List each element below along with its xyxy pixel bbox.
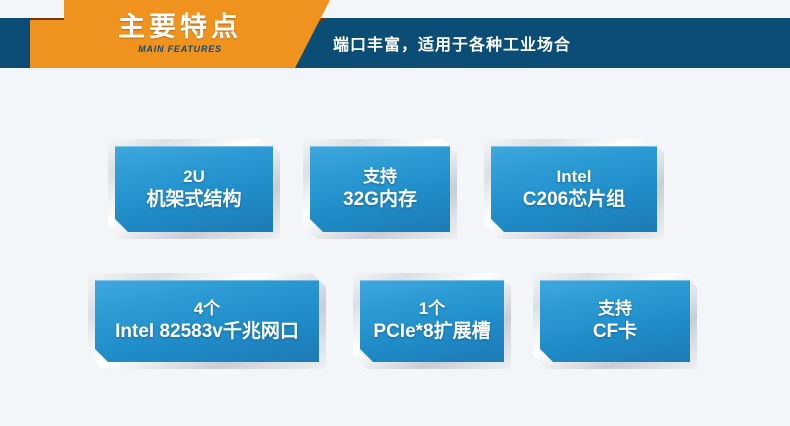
feature-card[interactable]: 支持 CF卡 [533, 273, 697, 369]
feature-card-line1: 支持 [598, 298, 632, 320]
feature-card-panel: 支持 32G内存 [310, 146, 450, 232]
feature-card[interactable]: 1个 PCIe*8扩展槽 [353, 273, 511, 369]
feature-card-panel: 2U 机架式结构 [115, 146, 273, 232]
feature-card-line2: 机架式结构 [146, 188, 241, 212]
feature-card-line1: 4个 [194, 298, 220, 320]
feature-card-panel: 支持 CF卡 [540, 280, 690, 362]
feature-card[interactable]: 支持 32G内存 [303, 139, 457, 239]
feature-card-line2: PCIe*8扩展槽 [373, 320, 490, 344]
feature-card[interactable]: 2U 机架式结构 [108, 139, 280, 239]
feature-card-panel: 4个 Intel 82583v千兆网口 [95, 280, 319, 362]
page-title: 主要特点 [118, 14, 242, 41]
page-subtitle-latin: MAIN FEATURES [138, 45, 222, 54]
feature-card-line2: Intel 82583v千兆网口 [115, 320, 299, 344]
feature-card[interactable]: 4个 Intel 82583v千兆网口 [88, 273, 326, 369]
feature-card-panel: 1个 PCIe*8扩展槽 [360, 280, 504, 362]
feature-card-line2: CF卡 [593, 320, 637, 344]
header-tagline: 端口丰富，适用于各种工业场合 [333, 18, 571, 68]
feature-card-line2: C206芯片组 [523, 188, 625, 212]
feature-card[interactable]: Intel C206芯片组 [484, 139, 664, 239]
feature-card-line2: 32G内存 [343, 188, 417, 212]
ribbon-text-group: 主要特点 MAIN FEATURES [30, 0, 330, 68]
feature-card-line1: 1个 [419, 298, 445, 320]
feature-card-panel: Intel C206芯片组 [491, 146, 657, 232]
page-header: 主要特点 MAIN FEATURES 端口丰富，适用于各种工业场合 [0, 0, 790, 90]
feature-card-line1: 2U [183, 166, 205, 188]
feature-card-line1: 支持 [363, 166, 397, 188]
page-root: 主要特点 MAIN FEATURES 端口丰富，适用于各种工业场合 2U 机架式… [0, 0, 790, 426]
feature-card-line1: Intel [557, 166, 592, 188]
